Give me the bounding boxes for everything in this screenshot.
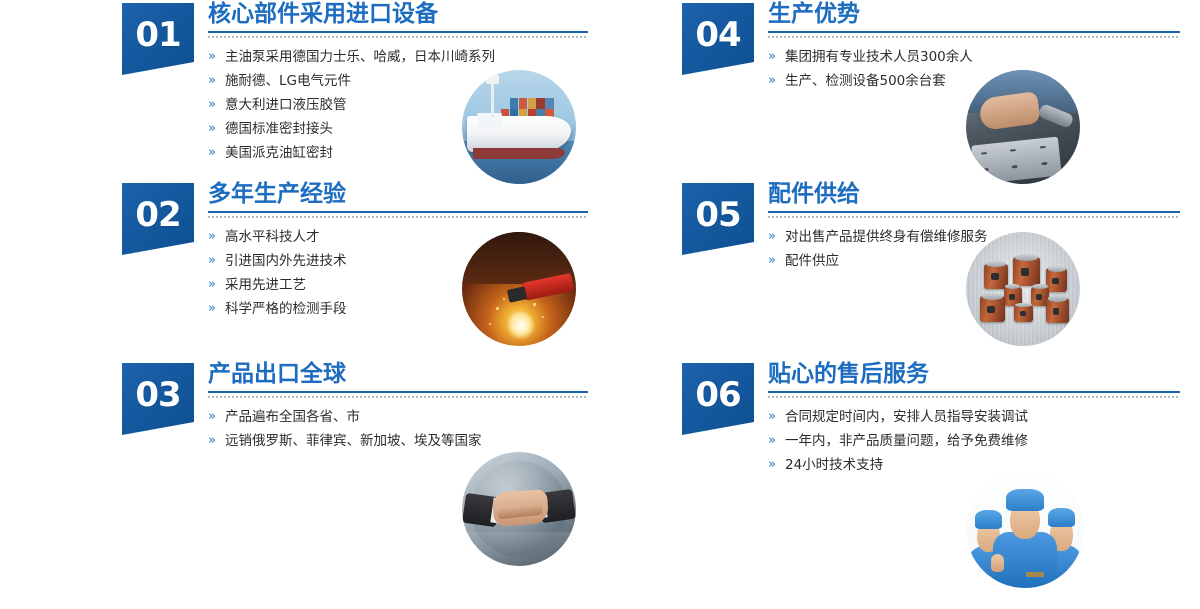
list-item: »意大利进口液压胶管 <box>208 93 495 117</box>
bullet-text: 远销俄罗斯、菲律宾、新加坡、埃及等国家 <box>225 433 482 449</box>
advantage-card-05: 05 配件供给 »对出售产品提供终身有偿维修服务 »配件供应 <box>678 180 1168 360</box>
bullet-text: 德国标准密封接头 <box>225 121 333 137</box>
advantage-card-06: 06 贴心的售后服务 »合同规定时间内，安排人员指导安装调试 »一年内，非产品质… <box>678 360 1168 540</box>
title-dotted-rule <box>768 36 1180 38</box>
spark <box>533 303 536 306</box>
container-block <box>545 98 553 109</box>
double-chevron-icon: » <box>768 69 776 93</box>
service-workers-photo <box>966 470 1084 588</box>
card-title-06: 贴心的售后服务 <box>768 358 929 390</box>
list-item: »采用先进工艺 <box>208 273 347 297</box>
worker-center <box>997 489 1054 588</box>
list-item: »科学严格的检测手段 <box>208 297 347 321</box>
double-chevron-icon: » <box>768 405 776 429</box>
number-badge-04: 04 <box>682 3 754 75</box>
double-chevron-icon: » <box>768 453 776 477</box>
worker-cap <box>1006 489 1043 511</box>
welding-arc-glow <box>505 312 537 339</box>
number-badge-05: 05 <box>682 183 754 255</box>
card-title-04: 生产优势 <box>768 0 860 30</box>
bolt-hole <box>980 152 986 155</box>
title-dotted-rule <box>768 216 1180 218</box>
double-chevron-icon: » <box>208 141 216 165</box>
bullet-text: 高水平科技人才 <box>225 229 320 245</box>
bullet-text: 科学严格的检测手段 <box>225 301 347 317</box>
bullet-list-03: »产品遍布全国各省、市 »远销俄罗斯、菲律宾、新加坡、埃及等国家 <box>208 405 482 453</box>
container-block <box>528 98 536 109</box>
table-reflection <box>462 532 576 566</box>
number-badge-06: 06 <box>682 363 754 435</box>
bullet-text: 主油泵采用德国力士乐、哈威，日本川崎系列 <box>225 49 495 65</box>
title-dotted-rule <box>208 36 588 38</box>
card-title-02: 多年生产经验 <box>208 178 346 210</box>
title-rule <box>768 211 1180 213</box>
list-item: »施耐德、LG电气元件 <box>208 69 495 93</box>
list-item: »德国标准密封接头 <box>208 117 495 141</box>
double-chevron-icon: » <box>768 45 776 69</box>
bullet-list-06: »合同规定时间内，安排人员指导安装调试 »一年内，非产品质量问题，给予免费维修 … <box>768 405 1028 477</box>
ship-cabin <box>477 113 502 129</box>
title-dotted-rule <box>208 396 588 398</box>
card-title-05: 配件供给 <box>768 178 860 210</box>
copper-bushing <box>1014 305 1033 322</box>
bolt-hole <box>1010 148 1016 151</box>
bullet-text: 采用先进工艺 <box>225 277 306 293</box>
title-rule <box>768 391 1180 393</box>
list-item: »合同规定时间内，安排人员指导安装调试 <box>768 405 1028 429</box>
bolt-hole <box>982 168 988 171</box>
bullet-list-02: »高水平科技人才 »引进国内外先进技术 »采用先进工艺 »科学严格的检测手段 <box>208 225 347 321</box>
double-chevron-icon: » <box>208 69 216 93</box>
double-chevron-icon: » <box>208 225 216 249</box>
bullet-text: 集团拥有专业技术人员300余人 <box>785 49 973 65</box>
bullet-text: 美国派克油缸密封 <box>225 145 333 161</box>
bullet-text: 产品遍布全国各省、市 <box>225 409 360 425</box>
double-chevron-icon: » <box>208 117 216 141</box>
list-item: »一年内，非产品质量问题，给予免费维修 <box>768 429 1028 453</box>
list-item: »配件供应 <box>768 249 988 273</box>
list-item: »远销俄罗斯、菲律宾、新加坡、埃及等国家 <box>208 429 482 453</box>
list-item: »美国派克油缸密封 <box>208 141 495 165</box>
bullet-text: 24小时技术支持 <box>785 457 883 473</box>
badge-number-label: 04 <box>682 3 754 67</box>
number-badge-01: 01 <box>122 3 194 75</box>
title-rule <box>208 31 588 33</box>
number-badge-03: 03 <box>122 363 194 435</box>
double-chevron-icon: » <box>208 93 216 117</box>
badge-number-label: 01 <box>122 3 194 67</box>
copper-bushing <box>1013 257 1040 286</box>
bullet-text: 合同规定时间内，安排人员指导安装调试 <box>785 409 1028 425</box>
badge-number-label: 03 <box>122 363 194 427</box>
badge-number-label: 02 <box>122 183 194 247</box>
list-item: »集团拥有专业技术人员300余人 <box>768 45 973 69</box>
bullet-text: 一年内，非产品质量问题，给予免费维修 <box>785 433 1028 449</box>
title-dotted-rule <box>208 216 588 218</box>
bullet-list-05: »对出售产品提供终身有偿维修服务 »配件供应 <box>768 225 988 273</box>
badge-number-label: 06 <box>682 363 754 427</box>
double-chevron-icon: » <box>208 249 216 273</box>
card-title-01: 核心部件采用进口设备 <box>208 0 438 30</box>
title-dotted-rule <box>768 396 1180 398</box>
advantages-page: 01 核心部件采用进口设备 »主油泵采用德国力士乐、哈威，日本川崎系列 »施耐德… <box>0 0 1200 609</box>
advantage-card-04: 04 生产优势 »集团拥有专业技术人员300余人 »生产、检测设备500余台套 <box>678 0 1168 180</box>
double-chevron-icon: » <box>768 429 776 453</box>
container-ship-photo <box>462 70 576 184</box>
double-chevron-icon: » <box>768 249 776 273</box>
copper-bushing <box>1046 268 1068 292</box>
bolt-hole <box>1041 162 1047 165</box>
double-chevron-icon: » <box>208 297 216 321</box>
copper-bushing <box>1046 298 1069 323</box>
container-block <box>519 98 527 109</box>
bolt-hole <box>1039 145 1045 148</box>
advantages-grid: 01 核心部件采用进口设备 »主油泵采用德国力士乐、哈威，日本川崎系列 »施耐德… <box>0 0 1200 609</box>
card-title-03: 产品出口全球 <box>208 358 346 390</box>
bullet-text: 施耐德、LG电气元件 <box>225 73 351 89</box>
list-item: »产品遍布全国各省、市 <box>208 405 482 429</box>
bullet-text: 意大利进口液压胶管 <box>225 97 347 113</box>
double-chevron-icon: » <box>208 429 216 453</box>
list-item: »高水平科技人才 <box>208 225 347 249</box>
bullet-list-04: »集团拥有专业技术人员300余人 »生产、检测设备500余台套 <box>768 45 973 93</box>
container-block <box>510 98 518 109</box>
thumbs-up-hand <box>991 554 1004 572</box>
bullet-text: 引进国内外先进技术 <box>225 253 347 269</box>
double-chevron-icon: » <box>208 405 216 429</box>
bullet-text: 配件供应 <box>785 253 839 269</box>
ship-mast <box>491 79 494 118</box>
bullet-list-01: »主油泵采用德国力士乐、哈威，日本川崎系列 »施耐德、LG电气元件 »意大利进口… <box>208 45 495 165</box>
title-rule <box>208 211 588 213</box>
double-chevron-icon: » <box>768 225 776 249</box>
bolt-hole <box>1011 165 1017 168</box>
double-chevron-icon: » <box>208 273 216 297</box>
list-item: »引进国内外先进技术 <box>208 249 347 273</box>
bullet-text: 对出售产品提供终身有偿维修服务 <box>785 229 988 245</box>
list-item: »生产、检测设备500余台套 <box>768 69 973 93</box>
container-block <box>536 98 544 109</box>
title-rule <box>208 391 588 393</box>
engine-machining-photo <box>966 70 1080 184</box>
copper-bushing <box>980 296 1005 322</box>
badge-number-label: 05 <box>682 183 754 247</box>
number-badge-02: 02 <box>122 183 194 255</box>
list-item: »主油泵采用德国力士乐、哈威，日本川崎系列 <box>208 45 495 69</box>
handshake-photo <box>462 452 576 566</box>
welding-sparks-photo <box>462 232 576 346</box>
double-chevron-icon: » <box>208 45 216 69</box>
list-item: »对出售产品提供终身有偿维修服务 <box>768 225 988 249</box>
ship-hull-waterline <box>473 148 564 159</box>
title-rule <box>768 31 1180 33</box>
bullet-text: 生产、检测设备500余台套 <box>785 73 946 89</box>
uniform-logo <box>1026 572 1044 577</box>
copper-bushings-photo <box>966 232 1080 346</box>
